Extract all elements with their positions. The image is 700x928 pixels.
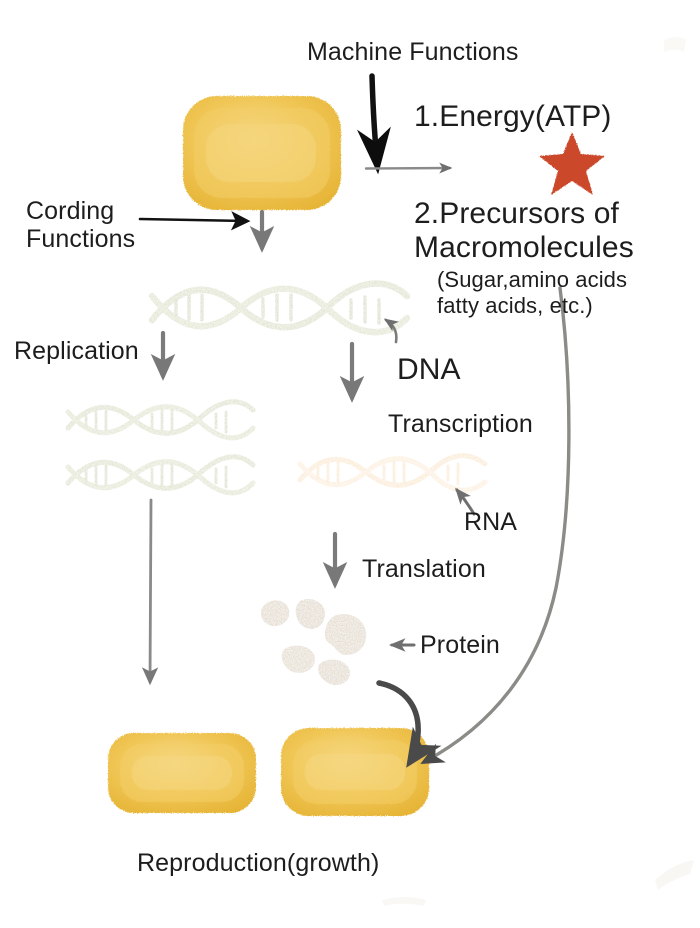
diagram-canvas: Machine Functions 1.Energy(ATP) 2.Precur…: [0, 0, 700, 928]
label-precursors-detail-line2: fatty acids, etc.): [437, 294, 593, 319]
label-cording-functions-line2: Functions: [26, 225, 135, 253]
parent-cell: [183, 96, 341, 210]
daughter-cell-left: [108, 733, 256, 813]
rna-strand: [300, 456, 485, 491]
label-protein: Protein: [420, 631, 500, 659]
machine-functions-arrow: [372, 76, 377, 162]
label-precursors-detail-line1: (Sugar,amino acids: [437, 268, 627, 293]
label-machine-functions: Machine Functions: [307, 38, 519, 66]
replicated-dna-bottom: [68, 457, 253, 493]
label-replication: Replication: [14, 337, 139, 365]
label-cording-functions-line1: Cording: [26, 197, 114, 225]
protein-blobs: [261, 599, 366, 685]
atp-star: [539, 132, 605, 195]
energy-arrow: [366, 168, 450, 169]
replication-to-cell-arrow: [150, 500, 151, 682]
cording-functions-arrow: [140, 219, 246, 221]
label-reproduction: Reproduction(growth): [137, 849, 379, 877]
label-precursors-line2: Macromolecules: [414, 231, 634, 265]
diagram-graphics-layer: [0, 0, 700, 928]
parent-dna-helix: [152, 284, 407, 333]
label-translation: Translation: [362, 555, 486, 583]
label-transcription: Transcription: [388, 410, 533, 438]
label-energy-atp: 1.Energy(ATP): [414, 100, 611, 134]
label-precursors-line1: 2.Precursors of: [414, 197, 619, 231]
daughter-cell-right: [281, 728, 429, 816]
label-rna: RNA: [464, 508, 517, 536]
label-dna: DNA: [397, 353, 461, 387]
replicated-dna-top: [68, 402, 253, 438]
